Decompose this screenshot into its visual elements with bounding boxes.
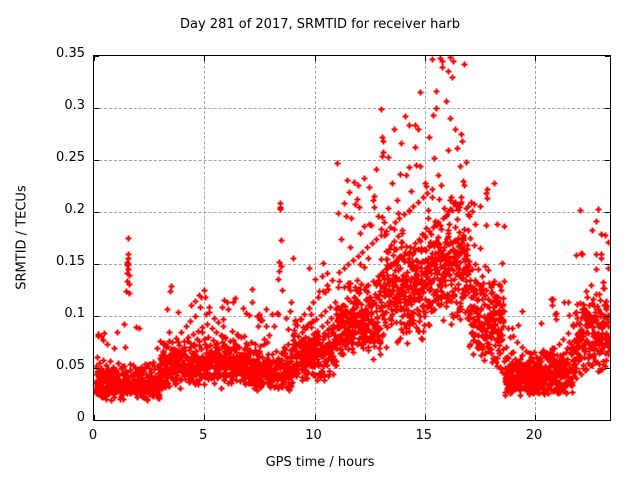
y-tick-mark [94,108,99,109]
x-tick-mark [425,56,426,61]
y-tick-label: 0.05 [35,358,85,373]
x-tick-mark [94,56,95,61]
x-tick-label: 15 [394,428,454,443]
plot-area [93,55,611,421]
y-tick-mark [605,212,610,213]
y-tick-mark [94,368,99,369]
y-tick-label: 0.2 [35,202,85,217]
x-axis-label: GPS time / hours [0,455,640,470]
y-tick-label: 0.3 [35,98,85,113]
y-tick-label: 0.25 [35,150,85,165]
x-tick-mark [204,56,205,61]
y-tick-mark [605,368,610,369]
x-tick-mark [315,415,316,420]
x-tick-mark [204,415,205,420]
y-axis-label: SRMTID / TECUs [15,148,30,328]
x-tick-mark [425,415,426,420]
y-tick-label: 0.1 [35,306,85,321]
scatter-plot-figure: Day 281 of 2017, SRMTID for receiver har… [0,0,640,480]
y-tick-mark [605,264,610,265]
y-tick-label: 0.35 [35,46,85,61]
y-tick-mark [605,56,610,57]
y-tick-mark [605,316,610,317]
y-tick-mark [94,212,99,213]
y-tick-mark [94,264,99,265]
y-tick-mark [94,160,99,161]
x-tick-label: 0 [63,428,123,443]
x-tick-label: 10 [284,428,344,443]
x-tick-mark [315,56,316,61]
y-tick-label: 0 [35,410,85,425]
x-tick-mark [535,56,536,61]
x-tick-mark [535,415,536,420]
y-tick-mark [605,160,610,161]
y-tick-mark [605,108,610,109]
x-tick-label: 5 [173,428,233,443]
y-tick-label: 0.15 [35,254,85,269]
axis-ticks [94,56,610,420]
page-title: Day 281 of 2017, SRMTID for receiver har… [0,17,640,32]
x-tick-label: 20 [504,428,564,443]
x-tick-mark [94,415,95,420]
y-tick-mark [94,316,99,317]
